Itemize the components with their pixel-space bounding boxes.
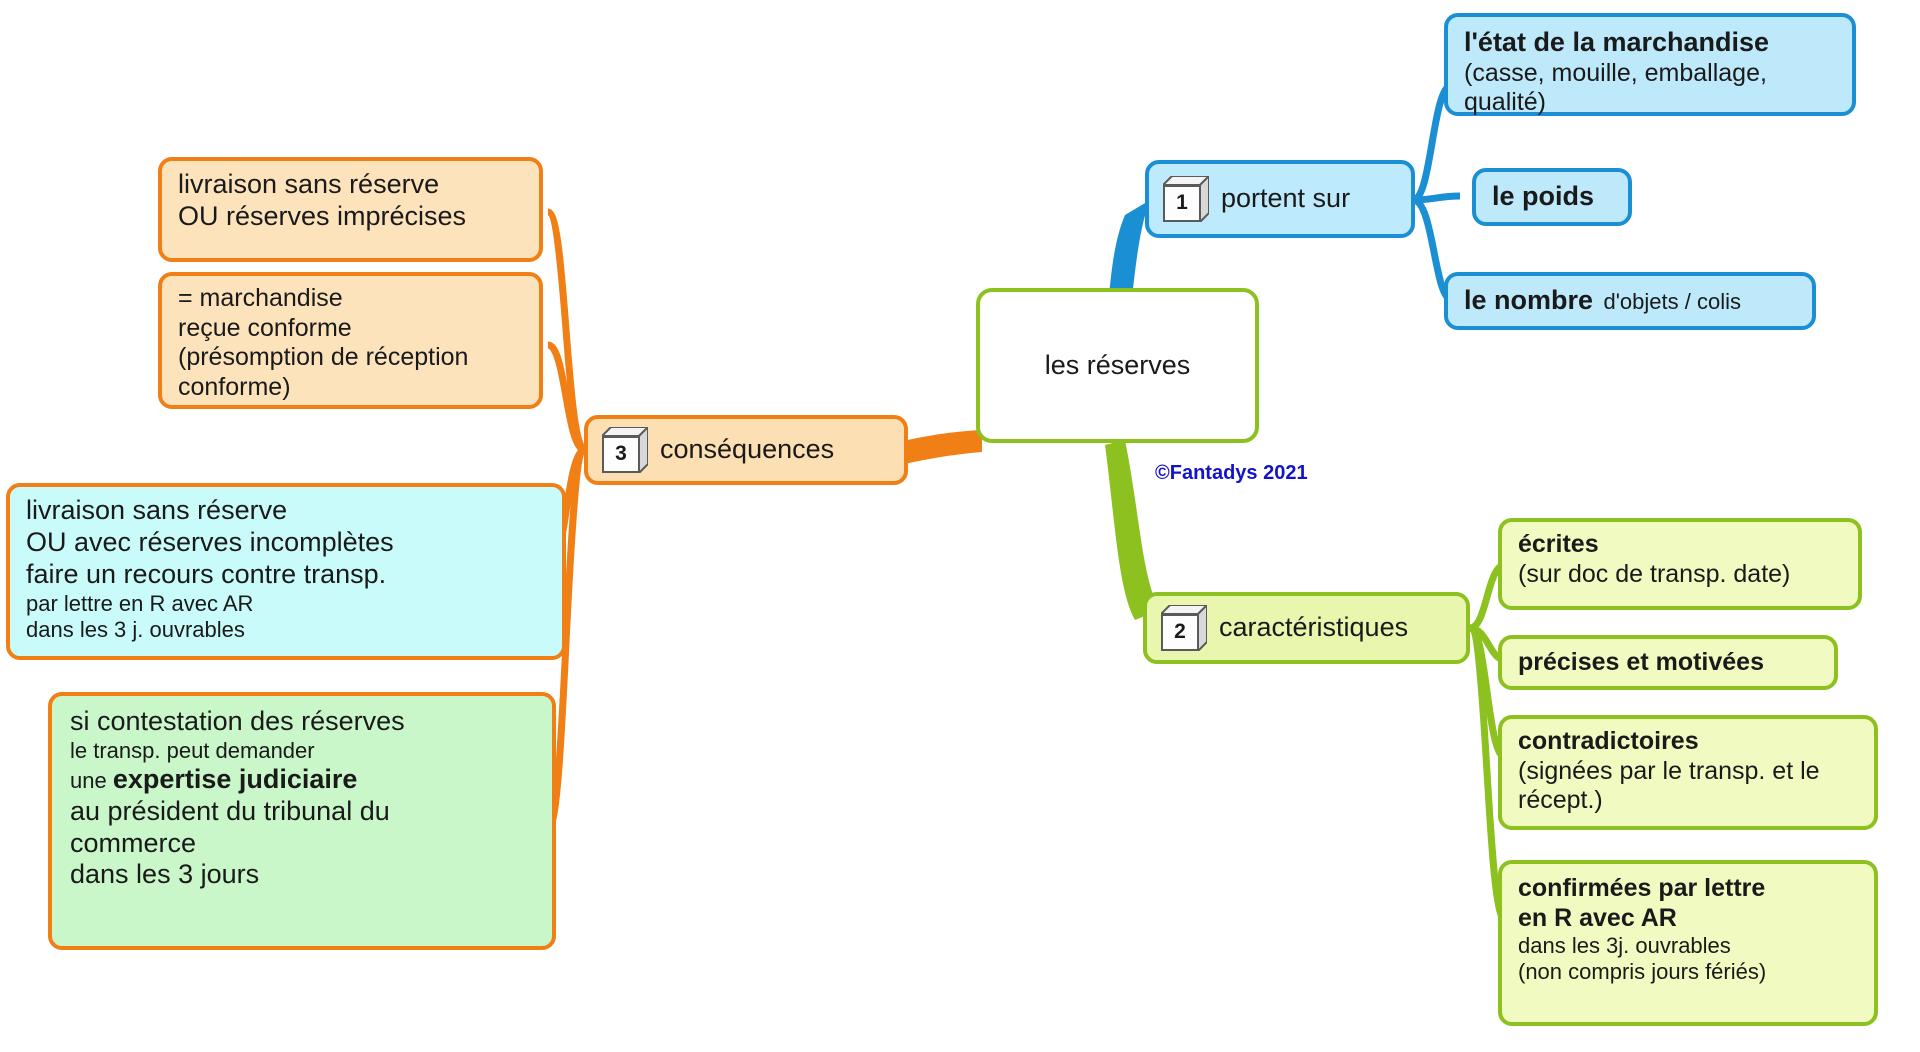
leaf-contestation-line-3-bold: expertise judiciaire <box>113 764 358 794</box>
leaf-conforme-line-4: conforme) <box>178 373 523 403</box>
edge-blue-leaf-2 <box>1413 196 1460 200</box>
leaf-recours-line-1: livraison sans réserve <box>26 495 546 527</box>
leaf-ecrites-title: écrites <box>1518 530 1842 560</box>
leaf-imprecises-line-2: OU réserves imprécises <box>178 201 523 233</box>
leaf-contestation-line-2: le transp. peut demander <box>70 738 534 764</box>
leaf-marchandise-recue-conforme[interactable]: = marchandise reçue conforme (présomptio… <box>158 272 543 409</box>
leaf-le-nombre[interactable]: le nombre d'objets / colis <box>1444 272 1816 330</box>
leaf-le-poids-title: le poids <box>1492 181 1594 213</box>
leaf-recours-line-5: dans les 3 j. ouvrables <box>26 617 546 643</box>
edge-orange-leaf-2 <box>548 345 585 450</box>
central-node-label: les réserves <box>998 350 1237 382</box>
leaf-conforme-line-3: (présomption de réception <box>178 343 523 373</box>
mindmap-canvas: les réserves ©Fantadys 2021 1 portent su… <box>0 0 1920 1052</box>
leaf-livraison-sans-reserve-imprecises[interactable]: livraison sans réserve OU réserves impré… <box>158 157 543 262</box>
leaf-recours-line-2: OU avec réserves incomplètes <box>26 527 546 559</box>
leaf-etat-marchandise-title: l'état de la marchandise <box>1464 27 1836 59</box>
leaf-etat-marchandise-detail: (casse, mouille, emballage, qualité) <box>1464 59 1836 118</box>
branch-node-consequences[interactable]: 3 conséquences <box>584 415 908 485</box>
leaf-etat-marchandise[interactable]: l'état de la marchandise (casse, mouille… <box>1444 13 1856 116</box>
leaf-confirmees-title-1: confirmées par lettre <box>1518 874 1858 904</box>
leaf-confirmees-detail-1: dans les 3j. ouvrables <box>1518 933 1858 959</box>
cube-badge-3-number: 3 <box>603 437 639 472</box>
leaf-confirmees-lettre[interactable]: confirmées par lettre en R avec AR dans … <box>1498 860 1878 1026</box>
leaf-precises-motivees[interactable]: précises et motivées <box>1498 635 1838 690</box>
leaf-recours-line-4: par lettre en R avec AR <box>26 591 546 617</box>
leaf-contestation-line-3: une expertise judiciaire <box>70 764 534 796</box>
leaf-contestation-line-6: dans les 3 jours <box>70 859 534 891</box>
branch-node-caracteristiques[interactable]: 2 caractéristiques <box>1143 592 1470 664</box>
leaf-confirmees-title-2: en R avec AR <box>1518 904 1858 934</box>
cube-badge-1-number: 1 <box>1164 186 1200 221</box>
leaf-le-nombre-detail: d'objets / colis <box>1603 289 1741 314</box>
leaf-ecrites[interactable]: écrites (sur doc de transp. date) <box>1498 518 1862 610</box>
cube-badge-2-icon: 2 <box>1161 605 1207 651</box>
leaf-contradictoires-detail-2: récept.) <box>1518 786 1858 816</box>
leaf-contestation-line-3-prefix: une <box>70 768 113 793</box>
leaf-contradictoires-title: contradictoires <box>1518 727 1858 757</box>
edge-orange-leaf-1 <box>548 212 585 450</box>
leaf-contradictoires-detail-1: (signées par le transp. et le <box>1518 757 1858 787</box>
leaf-contradictoires[interactable]: contradictoires (signées par le transp. … <box>1498 715 1878 830</box>
branch-node-portent-sur[interactable]: 1 portent sur <box>1145 160 1415 238</box>
leaf-le-nombre-title: le nombre <box>1464 285 1593 315</box>
leaf-conforme-line-1: = marchandise <box>178 284 523 314</box>
cube-badge-2-number: 2 <box>1162 615 1198 650</box>
branch-label-portent-sur: portent sur <box>1221 183 1350 215</box>
copyright-notice: ©Fantadys 2021 <box>1155 462 1308 485</box>
leaf-recours-line-3: faire un recours contre transp. <box>26 559 546 591</box>
leaf-contestation-line-5: commerce <box>70 828 534 860</box>
branch-label-consequences: conséquences <box>660 434 834 466</box>
leaf-conforme-line-2: reçue conforme <box>178 314 523 344</box>
cube-badge-1-icon: 1 <box>1163 176 1209 222</box>
central-node[interactable]: les réserves <box>976 288 1259 443</box>
leaf-imprecises-line-1: livraison sans réserve <box>178 169 523 201</box>
leaf-contestation-expertise[interactable]: si contestation des réserves le transp. … <box>48 692 556 950</box>
leaf-contestation-line-1: si contestation des réserves <box>70 706 534 738</box>
leaf-confirmees-detail-2: (non compris jours fériés) <box>1518 959 1858 985</box>
leaf-contestation-line-4: au président du tribunal du <box>70 796 534 828</box>
leaf-precises-motivees-title: précises et motivées <box>1518 648 1764 678</box>
leaf-le-poids[interactable]: le poids <box>1472 168 1632 226</box>
leaf-ecrites-detail-1: (sur doc de transp. date) <box>1518 560 1842 590</box>
branch-label-caracteristiques: caractéristiques <box>1219 612 1408 644</box>
cube-badge-3-icon: 3 <box>602 427 648 473</box>
leaf-recours-contre-transp[interactable]: livraison sans réserve OU avec réserves … <box>6 483 566 660</box>
